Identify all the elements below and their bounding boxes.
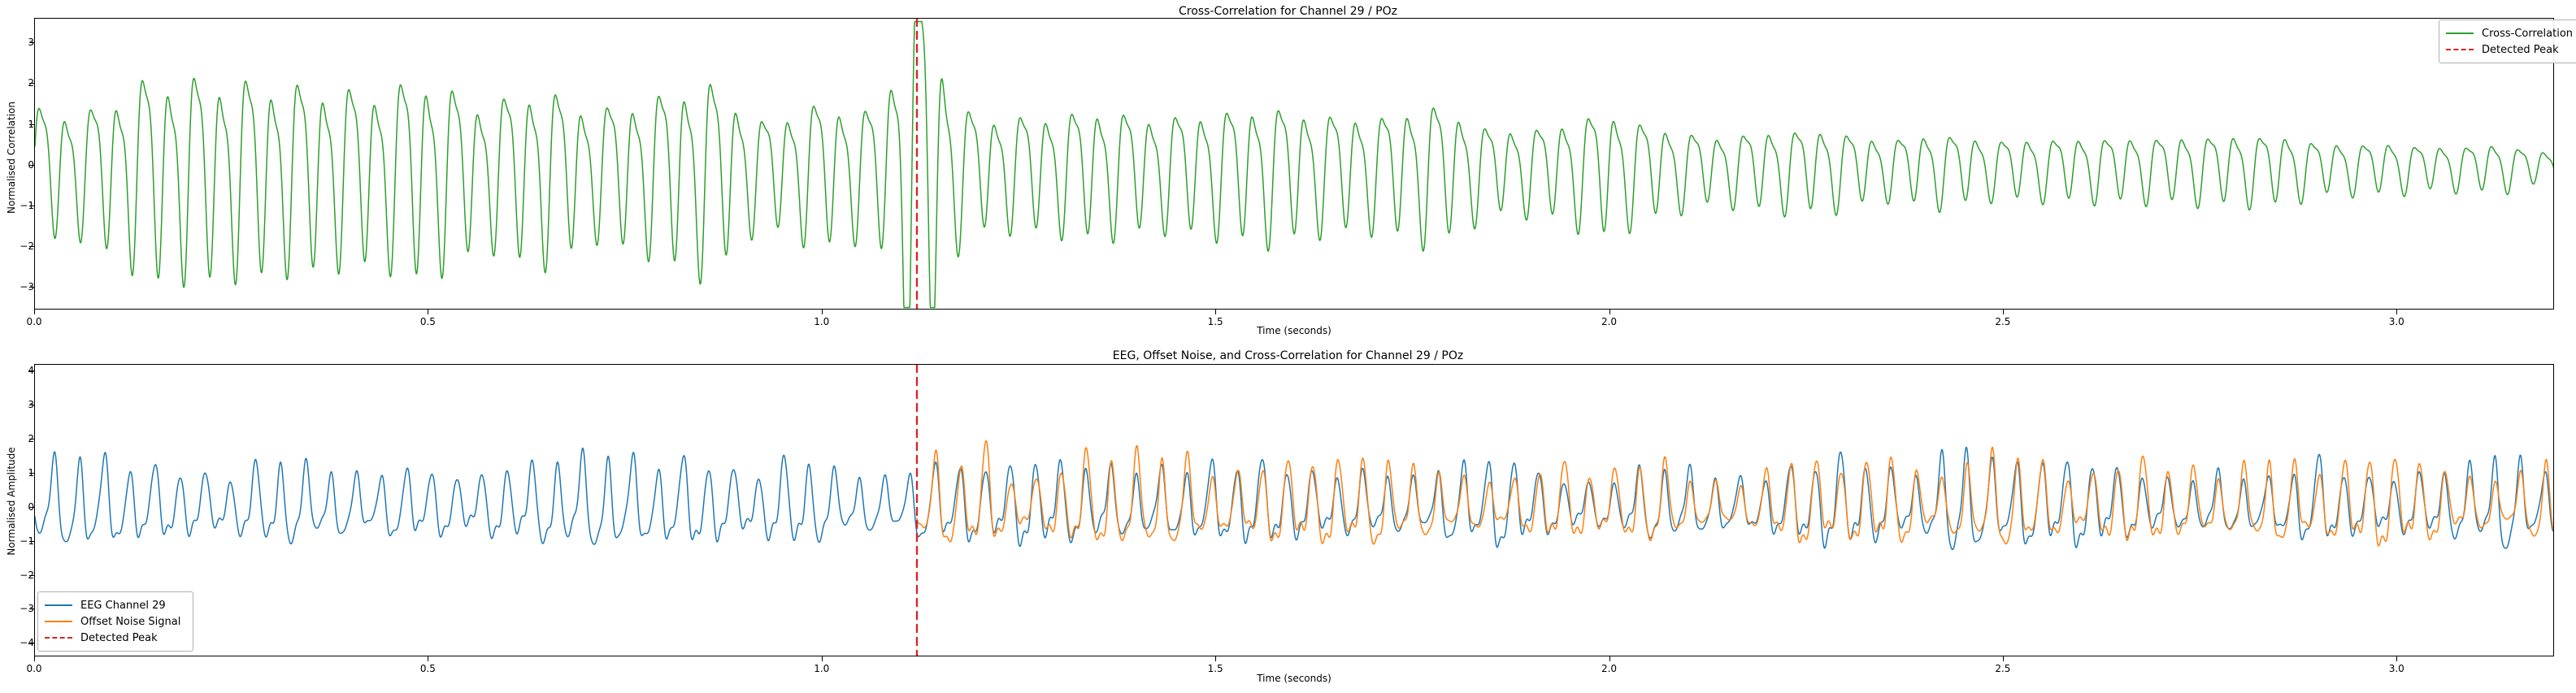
- y-axis-tick-label: 2: [0, 77, 41, 89]
- x-axis-tick-mark: [2396, 310, 2397, 314]
- eeg-line-icon: [45, 604, 72, 606]
- y-axis-tick-mark: [29, 124, 34, 125]
- y-axis-tick-mark: [29, 473, 34, 474]
- y-axis-tick-mark: [29, 246, 34, 247]
- legend-label-detected-peak-bottom: Detected Peak: [80, 632, 158, 644]
- x-axis-tick-mark: [822, 310, 823, 314]
- top-plot-title: Cross-Correlation for Channel 29 / POz: [0, 5, 2576, 18]
- x-axis-tick-mark: [1609, 656, 1610, 661]
- legend-label-detected-peak: Detected Peak: [2482, 44, 2559, 56]
- y-axis-tick-label: −1: [0, 200, 41, 211]
- top-legend: Cross-Correlation Detected Peak: [2439, 19, 2576, 63]
- x-axis-tick-mark: [428, 656, 428, 661]
- offset-noise-trace: [917, 441, 2553, 546]
- legend-label-offset-noise: Offset Noise Signal: [80, 616, 180, 628]
- detected-peak-line-icon: [2446, 49, 2474, 50]
- y-axis-tick-mark: [29, 83, 34, 84]
- y-axis-tick-label: 2: [0, 433, 41, 444]
- eeg-channel-trace: [35, 448, 2553, 550]
- y-axis-tick-mark: [29, 42, 34, 43]
- y-axis-tick-label: 3: [0, 399, 41, 410]
- y-axis-tick-label: −2: [0, 240, 41, 252]
- y-axis-tick-label: 1: [0, 119, 41, 130]
- cross-correlation-trace: [35, 22, 2553, 308]
- offset-noise-line-icon: [45, 621, 72, 622]
- x-axis-tick-mark: [1609, 310, 1610, 314]
- top-x-axis-label: Time (seconds): [34, 325, 2554, 336]
- y-axis-tick-label: 0: [0, 501, 41, 513]
- x-axis-tick-mark: [34, 656, 35, 661]
- x-axis-tick-mark: [428, 310, 428, 314]
- y-axis-tick-mark: [29, 643, 34, 643]
- bottom-x-axis-label: Time (seconds): [34, 673, 2554, 684]
- x-axis-tick-mark: [1215, 310, 1216, 314]
- cross-correlation-line-icon: [2446, 32, 2474, 34]
- y-axis-tick-label: −3: [0, 603, 41, 614]
- top-plot-canvas: [35, 19, 2553, 309]
- bottom-plot-canvas: [35, 365, 2553, 656]
- matplotlib-figure: Cross-Correlation for Channel 29 / POz N…: [0, 0, 2576, 693]
- x-axis-tick-mark: [1215, 656, 1216, 661]
- y-axis-tick-label: 4: [0, 365, 41, 376]
- x-axis-tick-mark: [2396, 656, 2397, 661]
- eeg-noise-crosscorr-panel: EEG, Offset Noise, and Cross-Correlation…: [0, 341, 2576, 693]
- detected-peak-line-icon-bottom: [45, 637, 72, 639]
- legend-item-eeg-channel: EEG Channel 29: [45, 597, 185, 613]
- y-axis-tick-mark: [29, 507, 34, 508]
- legend-item-detected-peak-bottom: Detected Peak: [45, 630, 185, 646]
- y-axis-tick-label: −4: [0, 637, 41, 648]
- cross-correlation-panel: Cross-Correlation for Channel 29 / POz N…: [0, 0, 2576, 341]
- x-axis-tick-mark: [2003, 310, 2004, 314]
- bottom-axes: EEG Channel 29 Offset Noise Signal Detec…: [34, 364, 2554, 656]
- y-axis-tick-mark: [29, 370, 34, 371]
- legend-item-detected-peak: Detected Peak: [2446, 41, 2576, 58]
- y-axis-tick-label: 1: [0, 467, 41, 479]
- y-axis-tick-mark: [29, 405, 34, 405]
- y-axis-tick-mark: [29, 439, 34, 440]
- x-axis-tick-mark: [822, 656, 823, 661]
- legend-item-offset-noise: Offset Noise Signal: [45, 613, 185, 630]
- y-axis-tick-label: −1: [0, 535, 41, 547]
- y-axis-tick-label: −2: [0, 570, 41, 581]
- top-axes: [34, 18, 2554, 310]
- x-axis-tick-mark: [2003, 656, 2004, 661]
- x-axis-tick-mark: [34, 310, 35, 314]
- legend-label-cross-correlation: Cross-Correlation: [2482, 28, 2573, 40]
- y-axis-tick-label: −3: [0, 281, 41, 292]
- legend-label-eeg-channel: EEG Channel 29: [80, 600, 166, 612]
- y-axis-tick-mark: [29, 165, 34, 166]
- y-axis-tick-label: 0: [0, 159, 41, 171]
- y-axis-tick-mark: [29, 287, 34, 288]
- bottom-plot-title: EEG, Offset Noise, and Cross-Correlation…: [0, 349, 2576, 362]
- y-axis-tick-mark: [29, 609, 34, 609]
- bottom-legend: EEG Channel 29 Offset Noise Signal Detec…: [37, 591, 193, 652]
- y-axis-tick-mark: [29, 206, 34, 206]
- y-axis-tick-mark: [29, 575, 34, 576]
- legend-item-cross-correlation: Cross-Correlation: [2446, 25, 2576, 41]
- y-axis-tick-label: 3: [0, 37, 41, 48]
- y-axis-tick-mark: [29, 541, 34, 542]
